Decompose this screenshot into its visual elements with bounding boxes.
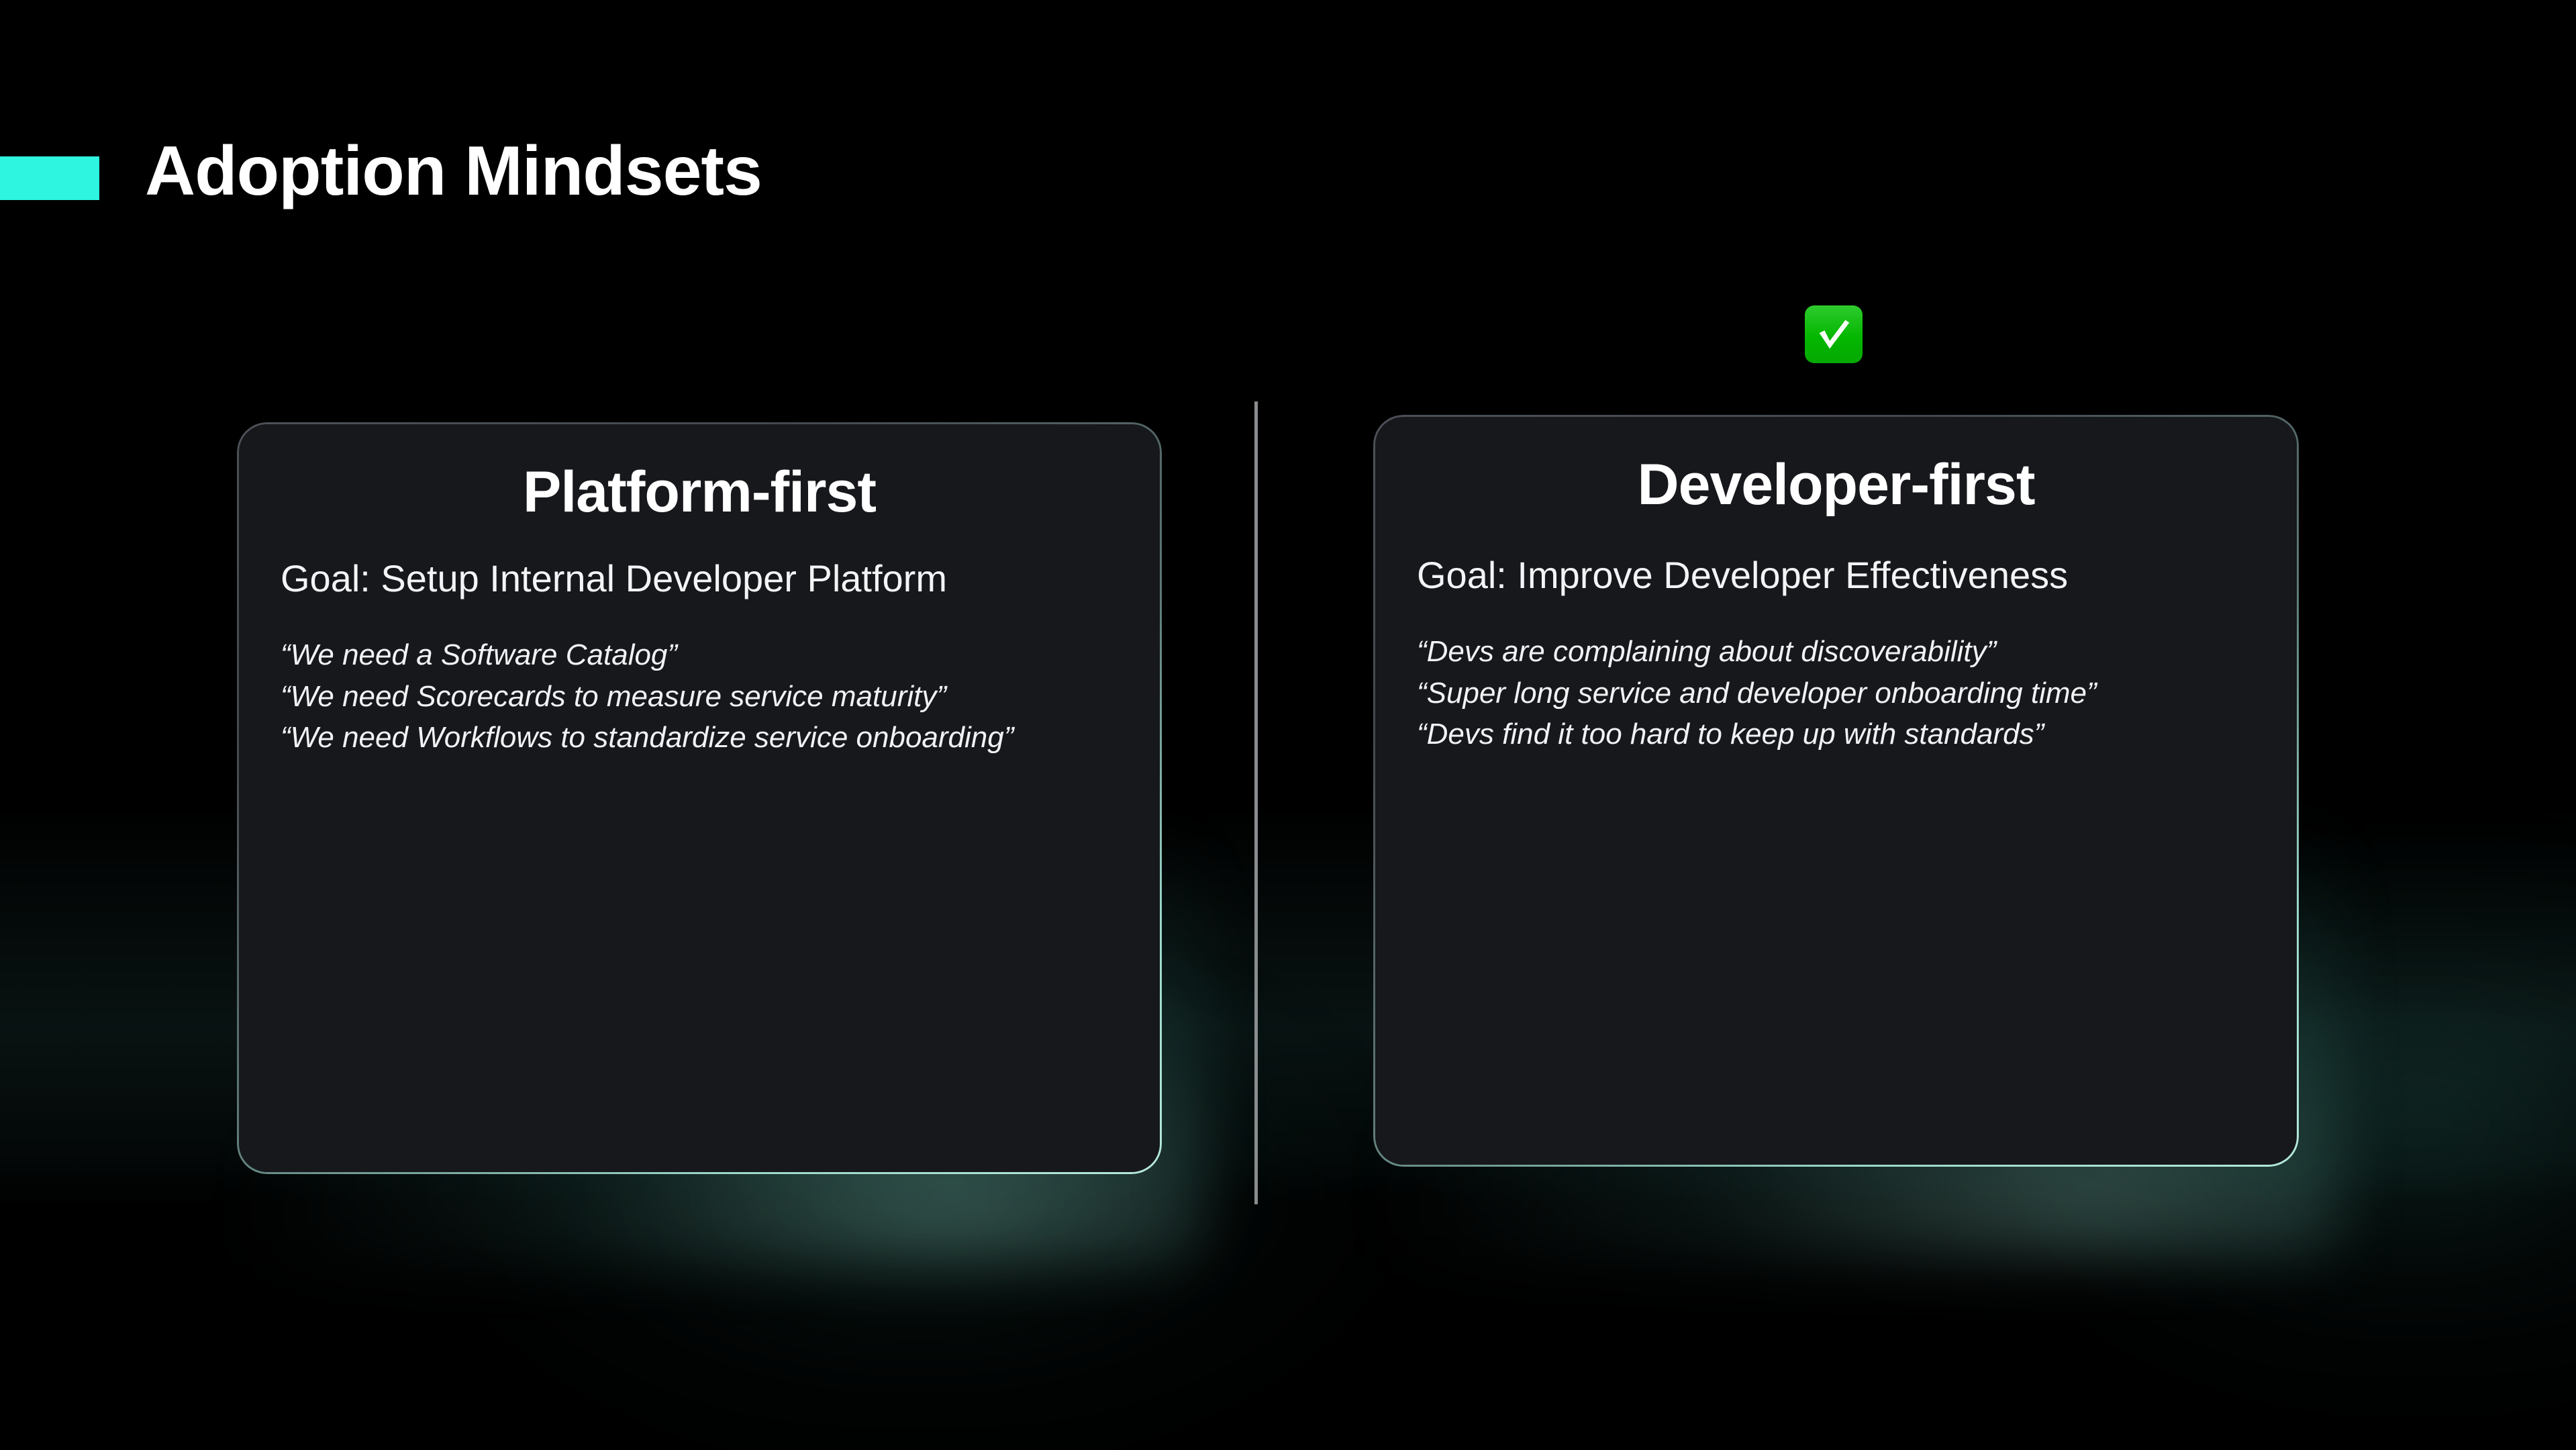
quote-item: “Devs are complaining about discoverabil…: [1417, 631, 2255, 673]
quote-item: “Devs find it too hard to keep up with s…: [1417, 714, 2255, 755]
card-goal-developer-first: Goal: Improve Developer Effectiveness: [1417, 550, 2255, 600]
card-goal-platform-first: Goal: Setup Internal Developer Platform: [281, 553, 1118, 603]
column-divider: [1254, 401, 1258, 1204]
quote-item: “We need Workflows to standardize servic…: [281, 717, 1118, 759]
card-developer-first[interactable]: Developer-first Goal: Improve Developer …: [1375, 417, 2297, 1165]
card-title-developer-first: Developer-first: [1417, 452, 2255, 518]
page-title: Adoption Mindsets: [145, 133, 762, 209]
card-quotes-platform-first: “We need a Software Catalog” “We need Sc…: [281, 634, 1118, 759]
card-platform-first[interactable]: Platform-first Goal: Setup Internal Deve…: [239, 424, 1160, 1172]
card-quotes-developer-first: “Devs are complaining about discoverabil…: [1417, 631, 2255, 755]
quote-item: “Super long service and developer onboar…: [1417, 673, 2255, 714]
accent-bar: [0, 156, 99, 200]
quote-item: “We need Scorecards to measure service m…: [281, 676, 1118, 718]
check-mark-icon: [1805, 305, 1863, 363]
card-title-platform-first: Platform-first: [281, 459, 1118, 525]
quote-item: “We need a Software Catalog”: [281, 634, 1118, 676]
